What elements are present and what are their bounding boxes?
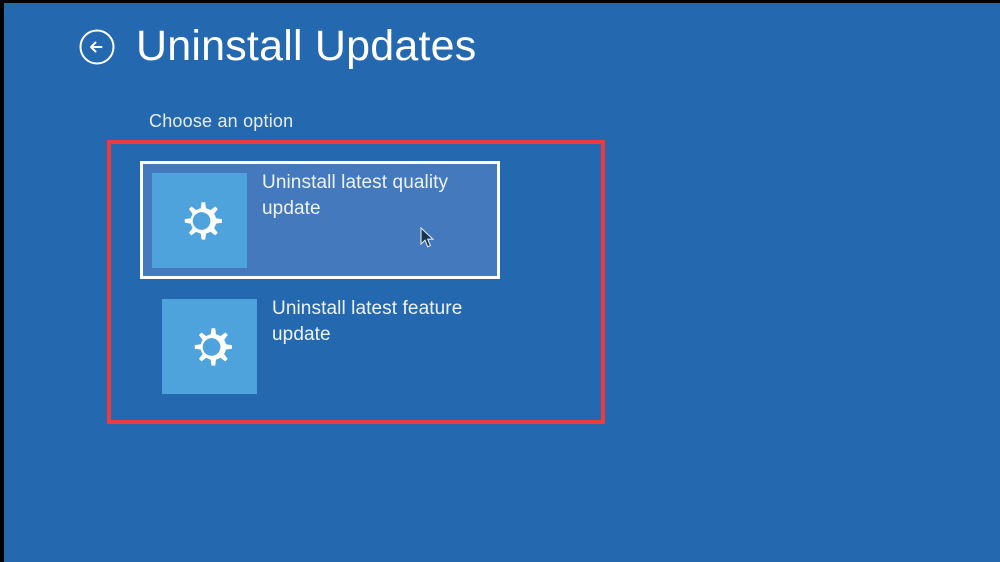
options-list: Uninstall latest quality update Uninstal… bbox=[140, 161, 500, 405]
gear-icon-feature bbox=[162, 299, 257, 394]
option-label-feature: Uninstall latest feature update bbox=[257, 290, 507, 347]
page-title: Uninstall Updates bbox=[136, 25, 476, 68]
option-uninstall-latest-quality-update[interactable]: Uninstall latest quality update bbox=[140, 161, 500, 279]
circled-arrow-left-icon bbox=[78, 28, 116, 66]
option-uninstall-latest-feature-update[interactable]: Uninstall latest feature update bbox=[150, 287, 510, 405]
gear-icon-quality bbox=[152, 173, 247, 268]
option-label-quality: Uninstall latest quality update bbox=[247, 164, 497, 221]
header: Uninstall Updates bbox=[78, 25, 476, 68]
back-button[interactable] bbox=[78, 28, 116, 66]
recovery-screen: Uninstall Updates Choose an option Unins… bbox=[0, 0, 1000, 562]
subtitle-choose-an-option: Choose an option bbox=[149, 111, 293, 132]
